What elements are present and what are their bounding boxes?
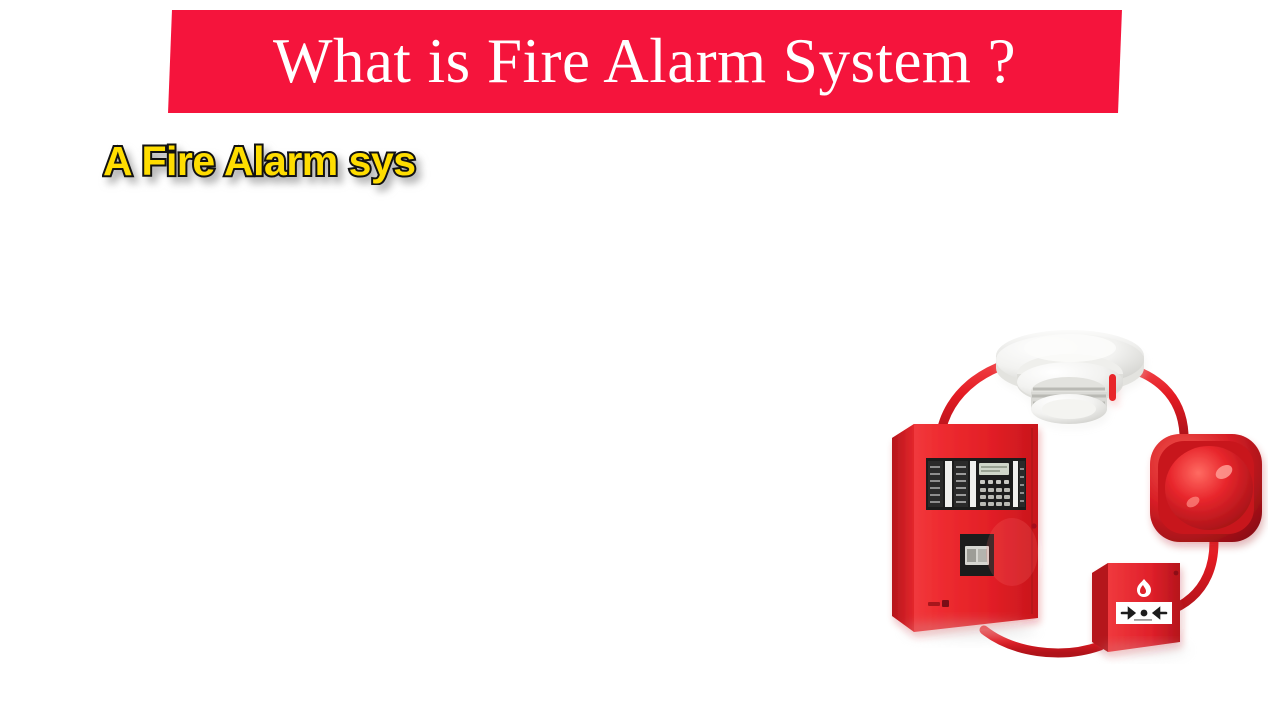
fire-alarm-system-photo (862, 330, 1268, 675)
detector-led-indicator (1109, 374, 1116, 401)
panel-fascia (926, 458, 1026, 510)
caption-text: A Fire Alarm sys (103, 141, 416, 182)
alarm-sounder (1150, 434, 1262, 542)
fire-alarm-control-panel (892, 424, 1038, 632)
call-point-label-strip (1116, 602, 1172, 624)
detector-sensor-chamber (1031, 377, 1107, 424)
smoke-detector (996, 330, 1144, 424)
slide-canvas: What is Fire Alarm System ? A Fire Alarm… (0, 0, 1280, 720)
title-banner: What is Fire Alarm System ? (168, 10, 1122, 113)
page-title: What is Fire Alarm System ? (273, 30, 1016, 93)
panel-lcd-display (979, 463, 1009, 475)
manual-call-point (1092, 563, 1180, 652)
